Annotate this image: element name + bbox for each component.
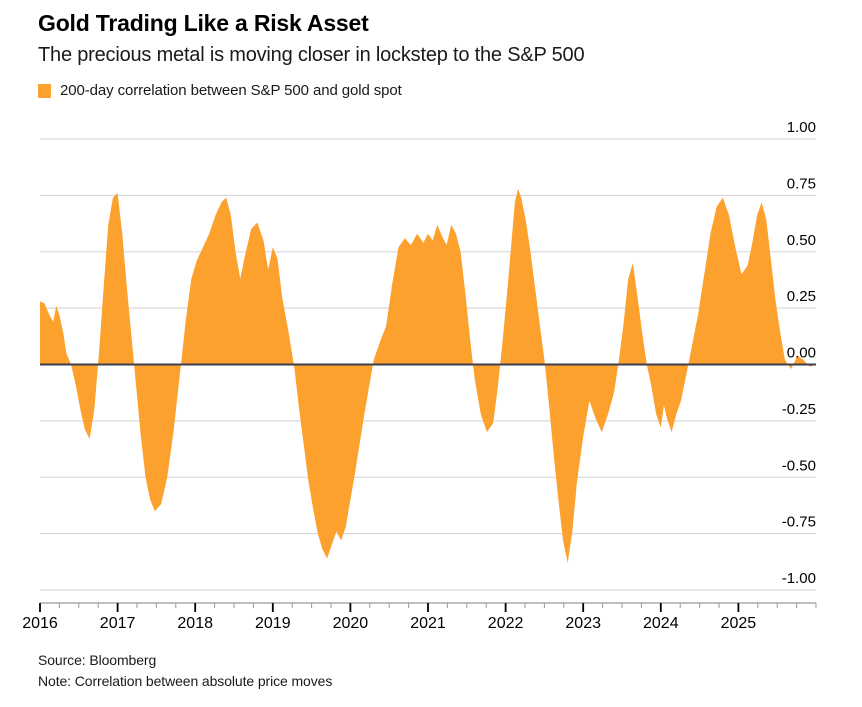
x-axis-tick-label: 2023 <box>565 615 601 632</box>
footnote-note: Note: Correlation between absolute price… <box>38 673 332 689</box>
y-axis-tick-label: 0.50 <box>787 232 816 249</box>
x-axis-tick-label: 2017 <box>100 615 136 632</box>
y-axis-tick-label: 0.25 <box>787 288 816 305</box>
x-axis-labels: 2016201720182019202020212022202320242025 <box>22 615 756 632</box>
y-axis-tick-label: -1.00 <box>782 570 816 587</box>
chart-plot-area: 1.000.750.500.250.00-0.25-0.50-0.75-1.00… <box>0 0 862 707</box>
x-axis-tick-label: 2019 <box>255 615 291 632</box>
chart-page: Gold Trading Like a Risk Asset The preci… <box>0 0 862 707</box>
y-axis-tick-label: -0.50 <box>782 457 816 474</box>
footnote-source: Source: Bloomberg <box>38 652 156 668</box>
y-axis-tick-label: -0.75 <box>782 514 816 531</box>
correlation-area-chart: 1.000.750.500.250.00-0.25-0.50-0.75-1.00… <box>0 0 862 707</box>
y-axis-tick-label: -0.25 <box>782 401 816 418</box>
x-axis-tick-label: 2022 <box>488 615 524 632</box>
y-axis-tick-label: 1.00 <box>787 119 816 136</box>
x-axis-tick-label: 2020 <box>333 615 369 632</box>
x-axis-tick-label: 2018 <box>177 615 213 632</box>
x-axis-tick-label: 2024 <box>643 615 679 632</box>
y-axis-tick-label: 0.75 <box>787 175 816 192</box>
x-axis-tick-label: 2021 <box>410 615 446 632</box>
x-axis-tick-label: 2025 <box>721 615 757 632</box>
x-axis-tick-label: 2016 <box>22 615 58 632</box>
y-axis-tick-label: 0.00 <box>787 345 816 362</box>
x-axis-ticks <box>40 603 816 612</box>
y-axis-labels: 1.000.750.500.250.00-0.25-0.50-0.75-1.00 <box>782 119 816 587</box>
area-series-correlation <box>40 189 816 563</box>
